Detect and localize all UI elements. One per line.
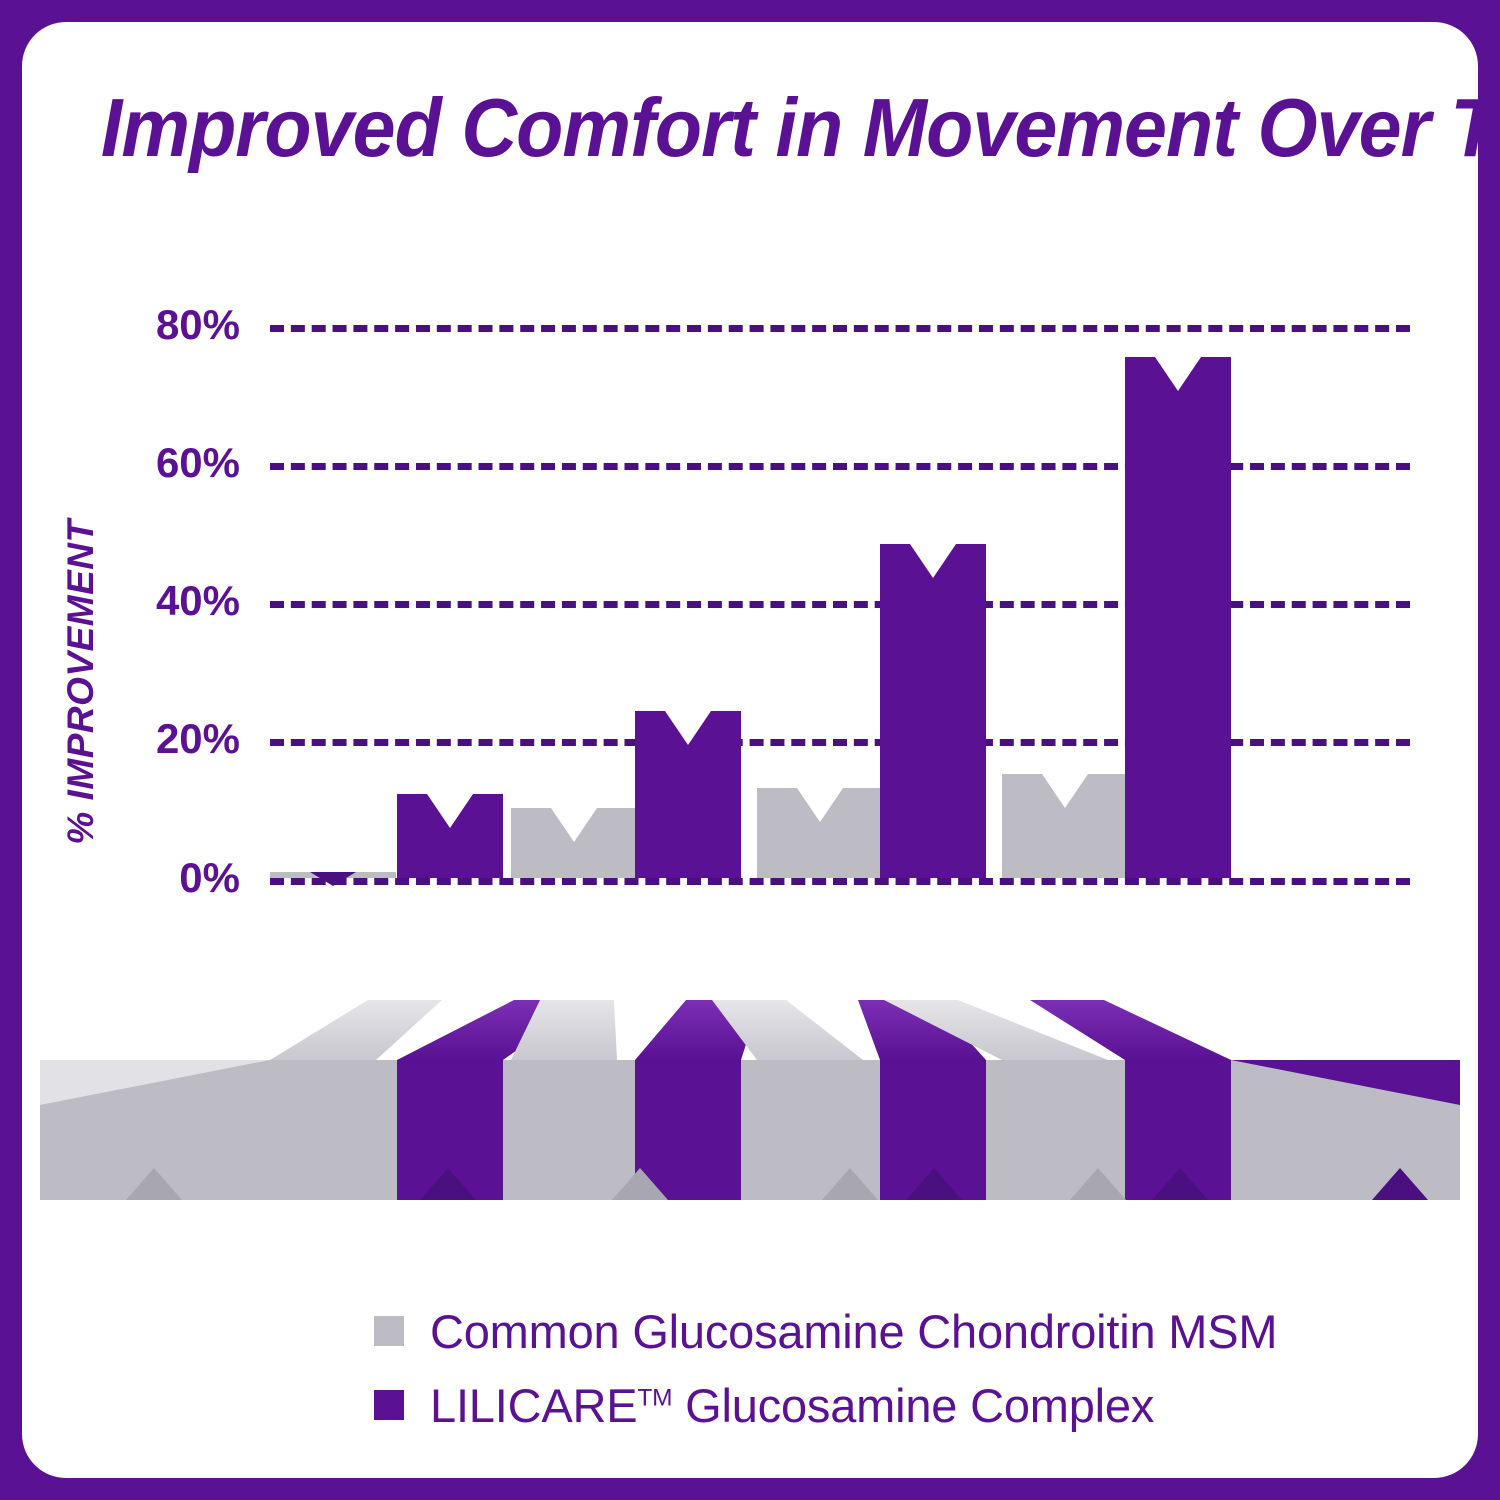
gridline-60 — [270, 463, 1410, 470]
chart-infographic: Improved Comfort in Movement Over Time 8… — [0, 0, 1500, 1500]
bar-purple-day90 — [1125, 357, 1231, 878]
platform-3d — [22, 1000, 1478, 1200]
bar-gray-day60 — [757, 788, 883, 878]
ytick-label-80: 80% — [156, 301, 240, 349]
legend-item-lilicare: LILICARETM Glucosamine Complex — [22, 1368, 1478, 1442]
ytick-label-20: 20% — [156, 715, 240, 763]
bar-face — [880, 544, 986, 878]
gridline-0 — [270, 878, 1410, 885]
legend-swatch-gray-icon — [374, 1316, 404, 1346]
legend-swatch-purple-icon — [374, 1390, 404, 1420]
ytick-label-0: 0% — [179, 854, 240, 902]
legend-label-common: Common Glucosamine Chondroitin MSM — [430, 1304, 1277, 1359]
gridline-20 — [270, 739, 1410, 746]
bar-purple-day7 — [397, 794, 503, 878]
bar-gray-day90 — [1002, 774, 1128, 878]
bar-gray-day30 — [511, 808, 637, 878]
trademark-mark: TM — [637, 1384, 672, 1411]
legend-label-lilicare: LILICARETM Glucosamine Complex — [430, 1378, 1154, 1433]
bar-gray-day7 — [270, 872, 396, 878]
ytick-label-40: 40% — [156, 577, 240, 625]
gridline-40 — [270, 601, 1410, 608]
bar-purple-day60 — [880, 544, 986, 878]
bar-purple-day30 — [635, 711, 741, 878]
chart-legend: Common Glucosamine Chondroitin MSM LILIC… — [22, 1294, 1478, 1442]
ytick-label-60: 60% — [156, 439, 240, 487]
legend-brand-name: LILICARE — [430, 1379, 637, 1432]
y-axis-title: % IMPROVEMENT — [60, 519, 102, 844]
plot-area: 80% 60% 40% 20% 0% % IMPROVEMENT — [22, 22, 1478, 1478]
chart-card: Improved Comfort in Movement Over Time 8… — [22, 22, 1478, 1478]
legend-label-suffix: Glucosamine Complex — [672, 1379, 1154, 1432]
gridline-80 — [270, 325, 1410, 332]
legend-item-common: Common Glucosamine Chondroitin MSM — [22, 1294, 1478, 1368]
bar-face — [1125, 357, 1231, 878]
